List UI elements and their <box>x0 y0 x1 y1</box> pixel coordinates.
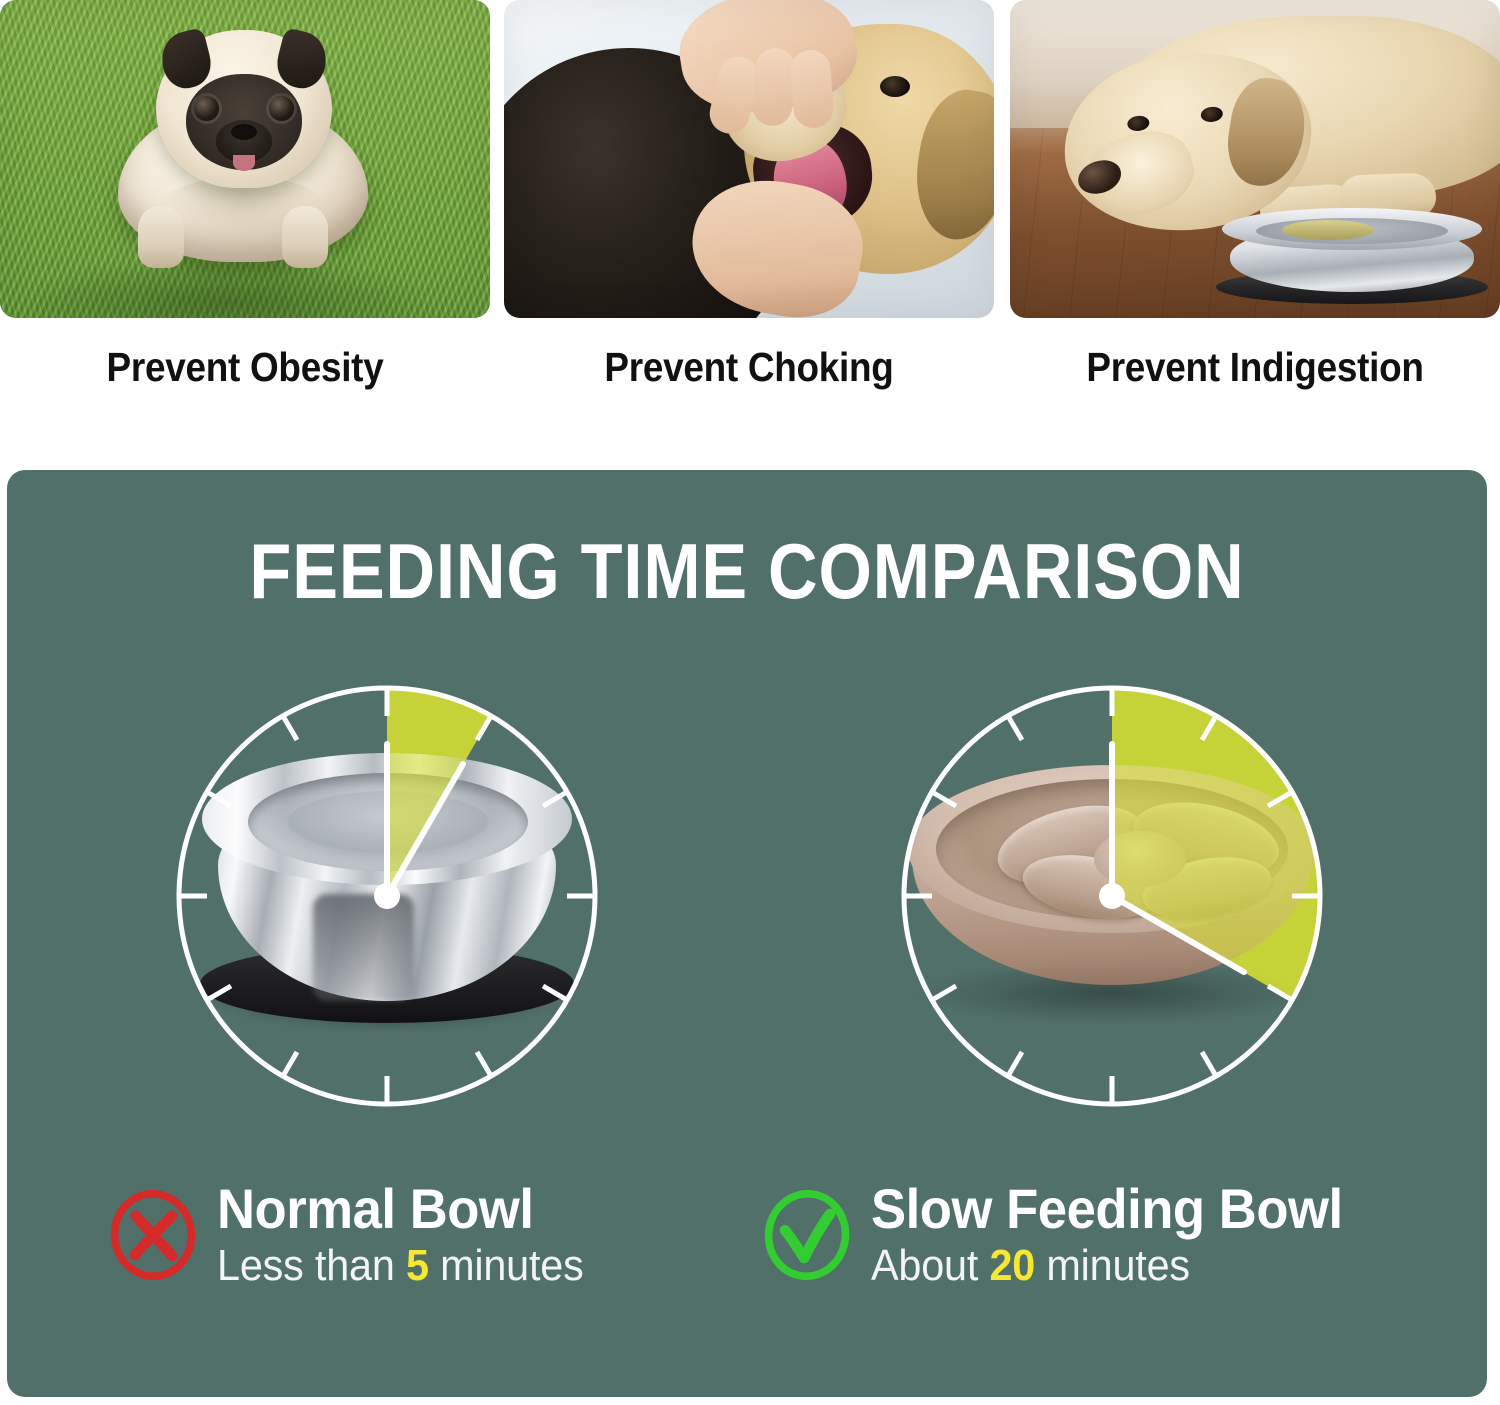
legend-sub-suffix: minutes <box>1035 1241 1190 1290</box>
slow-feeding-bowl-clock <box>832 670 1392 1140</box>
metal-bowl-in-photo <box>1216 208 1488 304</box>
benefit-caption-obesity: Prevent Obesity <box>25 344 466 391</box>
legend-subtitle-normal: Less than 5 minutes <box>217 1243 584 1289</box>
feeding-time-comparison-panel: FEEDING TIME COMPARISON <box>7 470 1487 1397</box>
pug-face <box>186 74 302 170</box>
legend-sub-suffix: minutes <box>429 1241 584 1290</box>
legend-sub-value: 20 <box>989 1241 1035 1290</box>
pug-dog-illustration <box>86 10 404 310</box>
pug-head <box>156 30 332 188</box>
legend-sub-prefix: About <box>871 1241 989 1290</box>
clock-stage-normal <box>161 670 613 1122</box>
pug-tongue <box>233 155 255 171</box>
cross-icon <box>105 1187 201 1283</box>
legend-subtitle-slow: About 20 minutes <box>871 1243 1343 1289</box>
clock-stage-slow <box>886 670 1338 1122</box>
pug-leg <box>138 206 184 268</box>
pug-eye <box>269 96 294 121</box>
legend-text-group: Slow Feeding Bowl About 20 minutes <box>871 1180 1373 1289</box>
photo-prevent-choking <box>504 0 994 318</box>
check-icon <box>759 1187 855 1283</box>
labrador-eye <box>1127 115 1151 133</box>
photo-prevent-indigestion <box>1010 0 1500 318</box>
labrador-eye <box>1200 106 1224 124</box>
pug-eye <box>194 96 219 121</box>
benefit-caption-indigestion: Prevent Indigestion <box>1035 344 1476 391</box>
benefit-caption-choking: Prevent Choking <box>529 344 970 391</box>
benefit-card-obesity: Prevent Obesity <box>0 0 490 391</box>
benefit-card-choking: Prevent Choking <box>504 0 994 391</box>
pug-leg <box>282 206 328 268</box>
legend-text-group: Normal Bowl Less than 5 minutes <box>217 1180 607 1289</box>
legend-sub-value: 5 <box>406 1241 429 1290</box>
photo-prevent-obesity <box>0 0 490 318</box>
dog-eye <box>880 76 910 97</box>
benefit-card-indigestion: Prevent Indigestion <box>1010 0 1500 391</box>
clock-face-normal <box>161 670 613 1122</box>
pug-snout <box>216 120 272 162</box>
legend-slow-feeding-bowl: Slow Feeding Bowl About 20 minutes <box>759 1180 1373 1289</box>
pug-nose <box>231 124 257 140</box>
normal-bowl-clock <box>107 670 667 1140</box>
legend-title-slow: Slow Feeding Bowl <box>871 1180 1343 1237</box>
legend-normal-bowl: Normal Bowl Less than 5 minutes <box>105 1180 607 1289</box>
legend-title-normal: Normal Bowl <box>217 1180 584 1237</box>
legend-sub-prefix: Less than <box>217 1241 406 1290</box>
bowl-food <box>1282 220 1374 240</box>
benefits-strip: Prevent Obesity Prevent Choking <box>0 0 1500 440</box>
clock-face-slow <box>886 670 1338 1122</box>
finger <box>789 49 834 130</box>
